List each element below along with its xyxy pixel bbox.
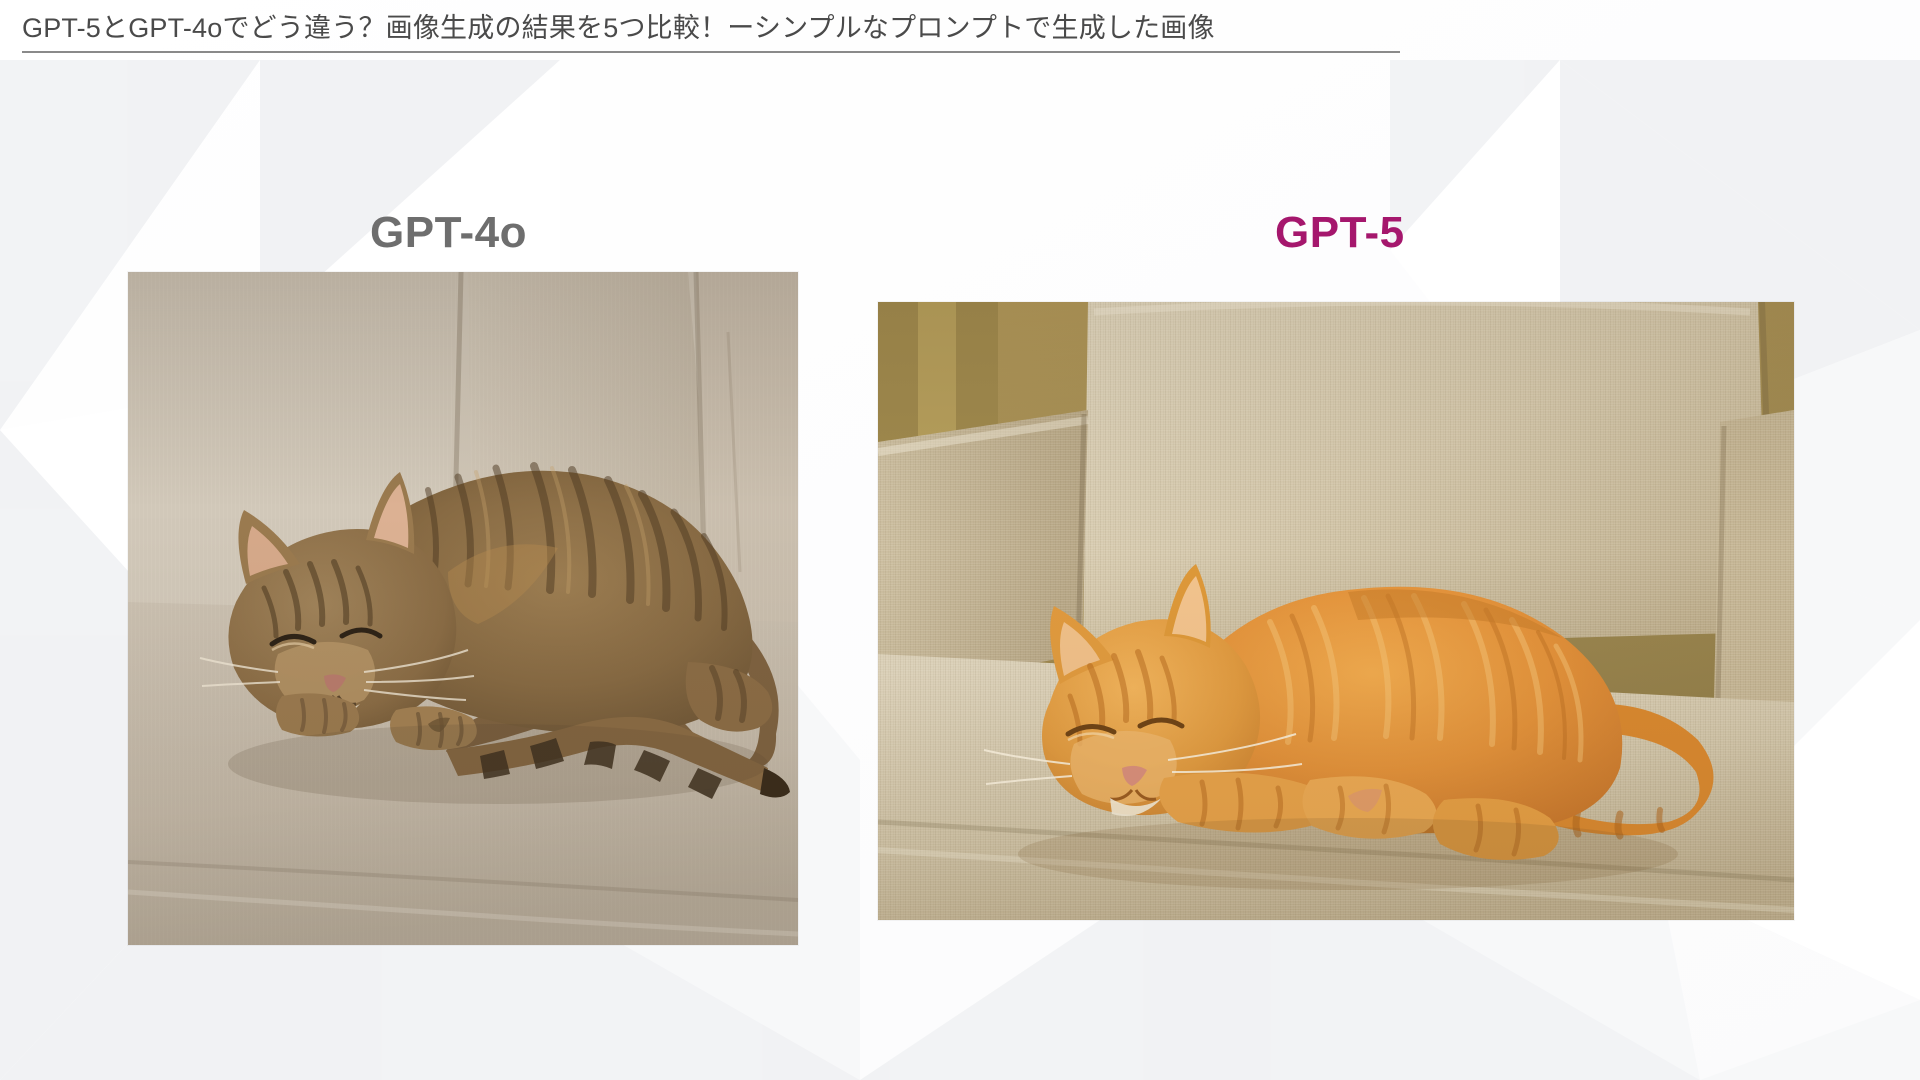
title-underline-rule [22,51,1400,53]
left-generated-image [128,272,798,945]
orange-tabby-cat-photo [878,302,1794,920]
slide-canvas: GPT-5とGPT-4oでどう違う？画像生成の結果を5つ比較！ーシンプルなプロン… [0,0,1920,1080]
left-model-label: GPT-4o [370,208,527,258]
title-bar: GPT-5とGPT-4oでどう違う？画像生成の結果を5つ比較！ーシンプルなプロン… [22,8,1402,53]
right-generated-image [878,302,1794,920]
brown-tabby-cat-photo [128,272,798,945]
page-title: GPT-5とGPT-4oでどう違う？画像生成の結果を5つ比較！ーシンプルなプロン… [22,8,1402,48]
right-model-label: GPT-5 [1275,208,1405,258]
